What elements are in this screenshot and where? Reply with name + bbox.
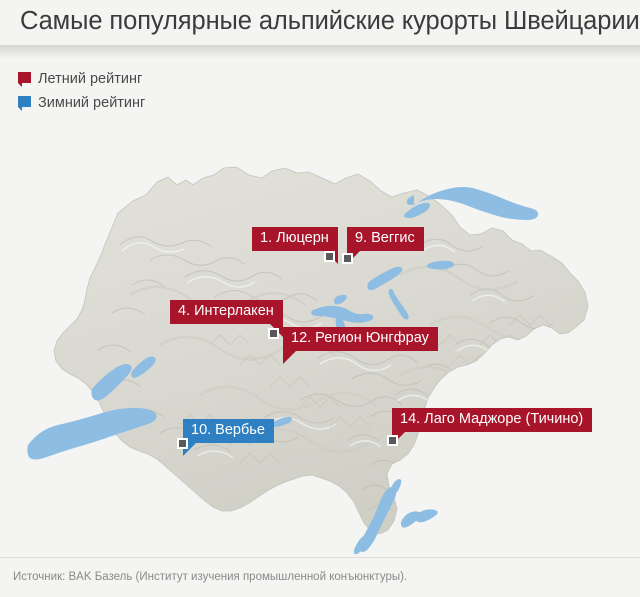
map-label-text: 4. Интерлакен <box>170 300 283 324</box>
map-label-verbier[interactable]: 10. Вербье <box>183 419 274 443</box>
map-label-interlaken[interactable]: 4. Интерлакен <box>170 300 283 324</box>
marker-lucerne[interactable] <box>324 251 335 262</box>
map-label-text: 12. Регион Юнгфрау <box>283 327 438 351</box>
page-title: Самые популярные альпийские курорты Швей… <box>20 7 640 36</box>
source-note: Источник: BAK Базель (Институт изучения … <box>13 571 407 583</box>
map-label-lago-maggiore[interactable]: 14. Лаго Маджоре (Тичино) <box>392 408 592 432</box>
legend-item-summer: Летний рейтинг <box>18 68 145 90</box>
legend-label-summer: Летний рейтинг <box>38 71 142 87</box>
flag-swatch-icon <box>18 96 31 111</box>
map-label-weggis[interactable]: 9. Веггис <box>347 227 424 251</box>
infographic-page: Самые популярные альпийские курорты Швей… <box>0 0 640 597</box>
map-label-pointer <box>283 351 296 364</box>
legend: Летний рейтинг Зимний рейтинг <box>18 68 145 116</box>
switzerland-relief-map <box>0 45 640 557</box>
marker-lago-maggiore[interactable] <box>387 435 398 446</box>
footer: Источник: BAK Базель (Институт изучения … <box>0 557 640 597</box>
marker-weggis[interactable] <box>342 253 353 264</box>
marker-verbier[interactable] <box>177 438 188 449</box>
map-label-text: 9. Веггис <box>347 227 424 251</box>
marker-interlaken[interactable] <box>268 328 279 339</box>
map-label-text: 14. Лаго Маджоре (Тичино) <box>392 408 592 432</box>
map-label-text: 1. Люцерн <box>252 227 338 251</box>
legend-label-winter: Зимний рейтинг <box>38 95 145 111</box>
legend-item-winter: Зимний рейтинг <box>18 92 145 114</box>
map-container <box>0 45 640 557</box>
map-label-text: 10. Вербье <box>183 419 274 443</box>
map-label-jungfrau[interactable]: 12. Регион Юнгфрау <box>283 327 438 351</box>
map-label-lucerne[interactable]: 1. Люцерн <box>252 227 338 251</box>
header: Самые популярные альпийские курорты Швей… <box>0 0 640 45</box>
flag-swatch-icon <box>18 72 31 87</box>
